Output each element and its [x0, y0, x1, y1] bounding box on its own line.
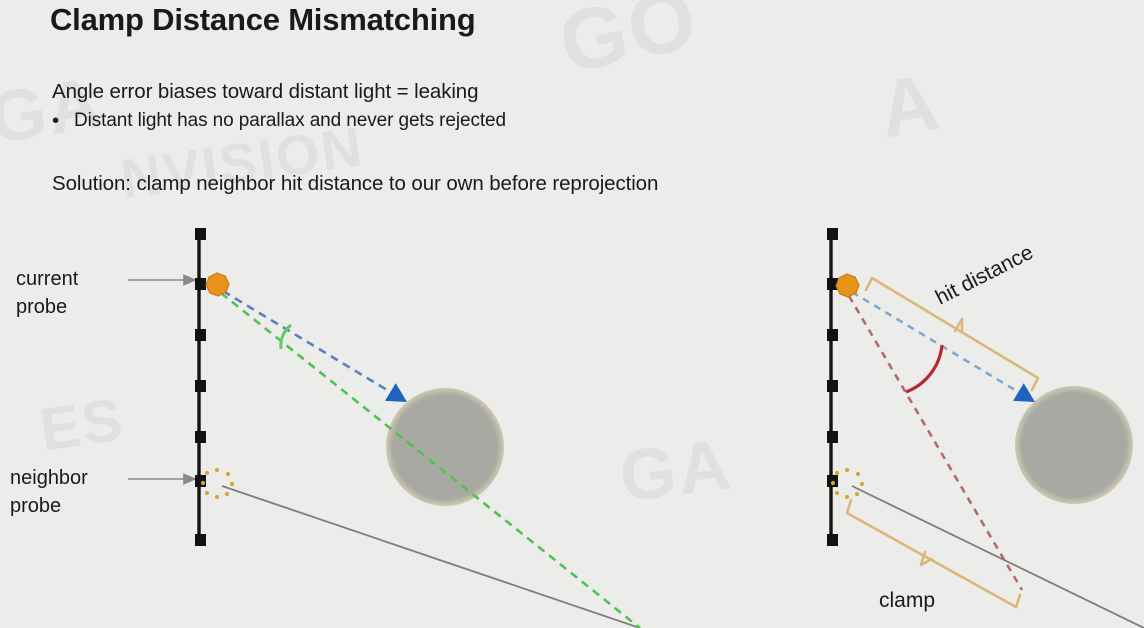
left-sphere	[386, 388, 504, 506]
right-sphere	[1015, 386, 1133, 504]
left-current-probe-label-line1: current	[16, 268, 79, 290]
right-diagram: hit distance clamp	[827, 228, 1144, 628]
diagram-canvas: current probe neighbor probe	[0, 0, 1144, 628]
left-neighbor-probe-label-line2: probe	[10, 495, 61, 517]
clamp-label: clamp	[879, 589, 935, 612]
left-neighbor-probe-label-line1: neighbor	[10, 467, 88, 489]
left-current-probe-label-line2: probe	[16, 296, 67, 318]
left-green-ray	[221, 293, 640, 628]
left-angle-arc	[281, 325, 291, 349]
left-neighbor-ray	[222, 486, 640, 628]
right-current-probe-marker	[836, 274, 859, 297]
right-red-ray	[849, 296, 1022, 590]
left-diagram: current probe neighbor probe	[10, 228, 640, 628]
right-angle-arc	[906, 345, 942, 392]
left-blue-ray	[223, 291, 397, 396]
left-current-probe-marker	[206, 273, 229, 296]
hit-distance-label: hit distance	[932, 241, 1037, 310]
